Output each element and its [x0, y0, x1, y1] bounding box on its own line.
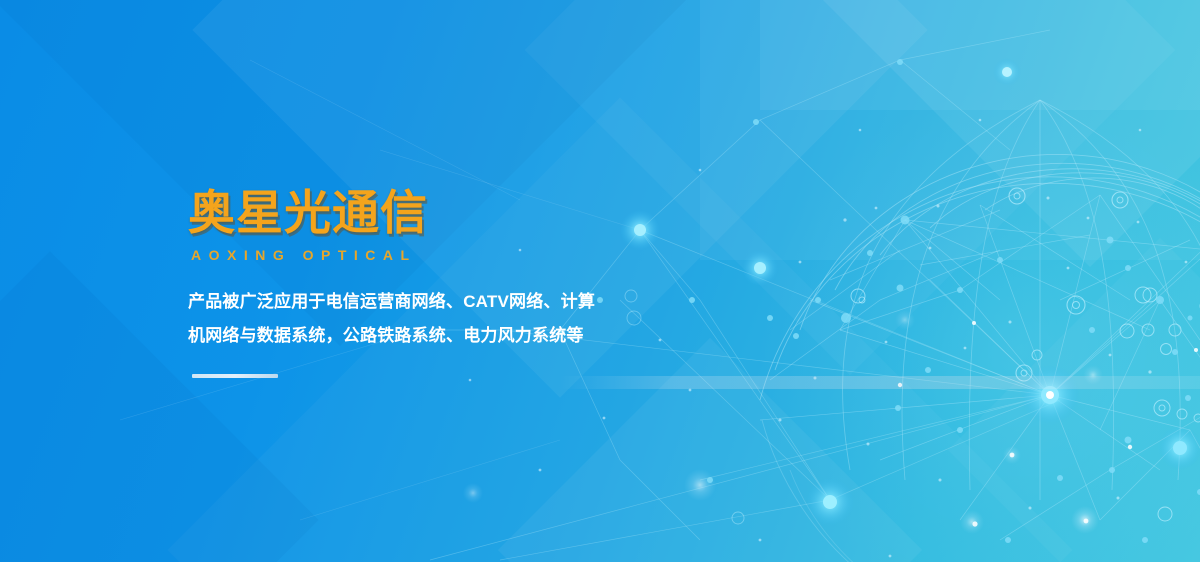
- banner-content: 奥星光通信 AOXING OPTICAL 产品被广泛应用于电信运营商网络、CAT…: [188, 188, 618, 378]
- brand-subtitle-english: AOXING OPTICAL: [191, 247, 618, 263]
- hero-banner: 奥星光通信 AOXING OPTICAL 产品被广泛应用于电信运营商网络、CAT…: [0, 0, 1200, 562]
- accent-divider: [192, 374, 278, 378]
- horizontal-light-beam: [560, 376, 1200, 389]
- brand-title: 奥星光通信: [188, 188, 618, 237]
- banner-description: 产品被广泛应用于电信运营商网络、CATV网络、计算机网络与数据系统，公路铁路系统…: [188, 285, 596, 353]
- description-line-1: 产品被广泛应用于电信运营商网络、CATV网: [188, 292, 526, 311]
- description-line-3: 电力风力系统等: [463, 326, 583, 345]
